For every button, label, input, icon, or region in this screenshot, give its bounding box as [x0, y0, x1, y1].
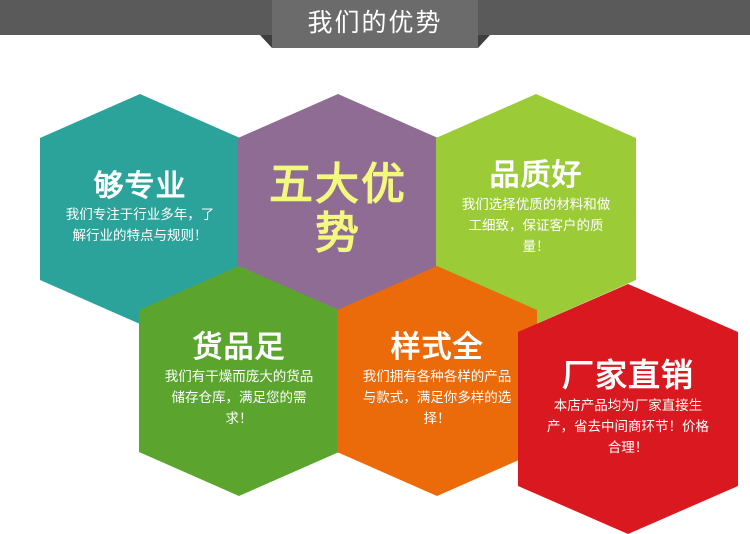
hex-card-title: 厂家直销 — [562, 359, 694, 393]
hex-card-title: 样式全 — [391, 332, 484, 364]
hex-card-title: 品质好 — [490, 160, 583, 192]
ribbon-wing-left — [0, 0, 272, 35]
ribbon-center-plate: 我们的优势 — [272, 0, 478, 48]
hex-card-title: 五大优势 — [254, 160, 422, 259]
hex-card-body: 本店产品均为厂家直接生产，省去中间商环节！价格合理！ — [542, 396, 714, 459]
hex-card-content: 厂家直销 本店产品均为厂家直接生产，省去中间商环节！价格合理！ — [518, 284, 738, 534]
hex-card-body: 我们选择优质的材料和做工细致，保证客户的质量！ — [458, 195, 614, 258]
page-title: 我们的优势 — [307, 10, 442, 39]
hex-card-body: 我们有干燥而庞大的货品储存仓库，满足您的需求！ — [161, 367, 317, 430]
ribbon-notch-left — [260, 35, 272, 48]
advantages-hex-grid: 够专业 我们专注于行业多年，了解行业的特点与规则！ 五大优势 品质好 我们选择优… — [0, 58, 750, 491]
hex-card-body: 我们拥有各种各样的产品与款式，满足你多样的选择！ — [359, 367, 515, 430]
ribbon-wing-right — [478, 0, 750, 35]
header-ribbon: 我们的优势 — [0, 0, 750, 58]
hex-card-title: 货品足 — [193, 332, 286, 364]
ribbon-notch-right — [478, 35, 490, 48]
hex-card-content: 货品足 我们有干燥而庞大的货品储存仓库，满足您的需求！ — [139, 266, 339, 496]
hex-card-chang-jia-zhi-xiao[interactable]: 厂家直销 本店产品均为厂家直接生产，省去中间商环节！价格合理！ — [518, 284, 738, 534]
hex-card-body: 我们专注于行业多年，了解行业的特点与规则！ — [62, 205, 218, 247]
hex-card-huo-pin-zu[interactable]: 货品足 我们有干燥而庞大的货品储存仓库，满足您的需求！ — [139, 266, 339, 496]
hex-card-content: 样式全 我们拥有各种各样的产品与款式，满足你多样的选择！ — [337, 266, 537, 496]
hex-card-yang-shi-quan[interactable]: 样式全 我们拥有各种各样的产品与款式，满足你多样的选择！ — [337, 266, 537, 496]
hex-card-title: 够专业 — [94, 171, 187, 203]
